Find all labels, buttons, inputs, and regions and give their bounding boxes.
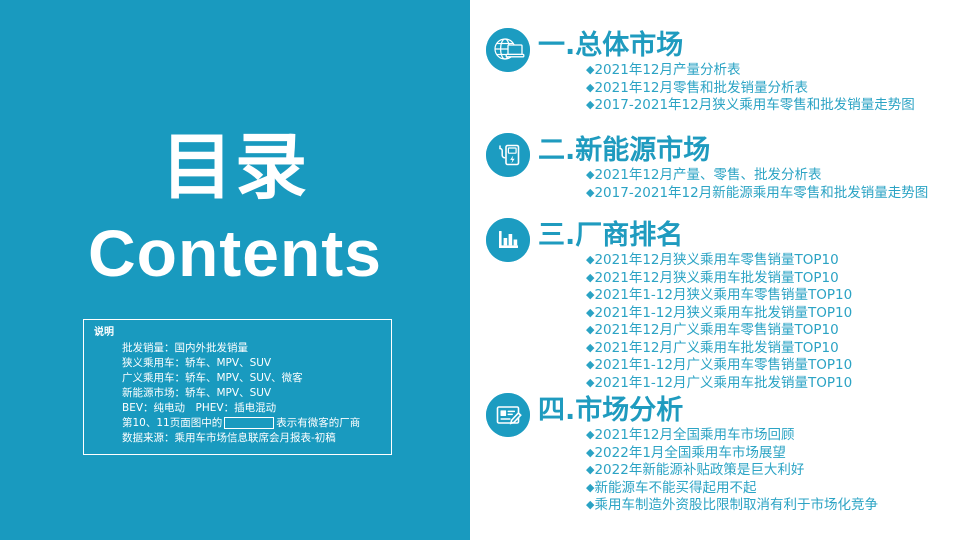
toc-section-3[interactable]: 三.厂商排名 ◆2021年12月狭义乘用车零售销量TOP10 ◆2021年12月…: [486, 218, 960, 262]
toc-item-label: 2021年12月产量、零售、批发分析表: [594, 167, 821, 183]
note-line: BEV：纯电动 PHEV：插电混动: [122, 401, 391, 416]
legend-note-box: 说明 批发销量：国内外批发销量 狭义乘用车：轿车、MPV、SUV 广义乘用车：轿…: [83, 319, 392, 455]
toc-item-label: 2021年1-12月狭义乘用车批发销量TOP10: [594, 305, 852, 321]
toc-section-4[interactable]: 四.市场分析 ◆2021年12月全国乘用车市场回顾 ◆2022年1月全国乘用车市…: [486, 393, 960, 437]
page-title-en: Contents: [0, 214, 470, 292]
toc-item[interactable]: ◆2021年1-12月广义乘用车零售销量TOP10: [586, 357, 852, 375]
toc-item[interactable]: ◆2021年12月零售和批发销量分析表: [586, 80, 915, 98]
toc-section-4-title: 四.市场分析: [538, 391, 683, 431]
diamond-bullet-icon: ◆: [586, 374, 594, 392]
toc-section-1[interactable]: 一.总体市场 ◆2021年12月产量分析表 ◆2021年12月零售和批发销量分析…: [486, 28, 960, 72]
globe-laptop-icon: [486, 28, 530, 72]
diamond-bullet-icon: ◆: [586, 251, 594, 269]
toc-item-label: 2021年1-12月广义乘用车零售销量TOP10: [594, 357, 852, 373]
diamond-bullet-icon: ◆: [586, 269, 594, 287]
diamond-bullet-icon: ◆: [586, 479, 594, 497]
diamond-bullet-icon: ◆: [586, 426, 594, 444]
toc-item-label: 2021年12月广义乘用车批发销量TOP10: [594, 340, 838, 356]
note-line: 批发销量：国内外批发销量: [122, 341, 391, 356]
diamond-bullet-icon: ◆: [586, 166, 594, 184]
toc-section-3-title: 三.厂商排名: [538, 216, 683, 256]
diamond-bullet-icon: ◆: [586, 304, 594, 322]
diamond-bullet-icon: ◆: [586, 496, 594, 514]
diamond-bullet-icon: ◆: [586, 184, 594, 202]
toc-item[interactable]: ◆2021年12月广义乘用车批发销量TOP10: [586, 340, 852, 358]
diamond-bullet-icon: ◆: [586, 461, 594, 479]
toc-item[interactable]: ◆乘用车制造外资股比限制取消有利于市场化竞争: [586, 497, 878, 515]
toc-item-label: 2021年1-12月广义乘用车批发销量TOP10: [594, 375, 852, 391]
document-pen-icon: [486, 393, 530, 437]
diamond-bullet-icon: ◆: [586, 286, 594, 304]
toc-item[interactable]: ◆2021年12月狭义乘用车批发销量TOP10: [586, 270, 852, 288]
toc-item-label: 2022年1月全国乘用车市场展望: [594, 445, 785, 461]
diamond-bullet-icon: ◆: [586, 356, 594, 374]
toc-item-label: 2022年新能源补贴政策是巨大利好: [594, 462, 804, 478]
diamond-bullet-icon: ◆: [586, 444, 594, 462]
bar-chart-icon: [486, 218, 530, 262]
toc-item[interactable]: ◆2017-2021年12月新能源乘用车零售和批发销量走势图: [586, 185, 928, 203]
toc-item-label: 乘用车制造外资股比限制取消有利于市场化竞争: [594, 497, 878, 513]
toc-item-label: 新能源车不能买得起用不起: [594, 480, 756, 496]
toc-item-label: 2021年12月全国乘用车市场回顾: [594, 427, 794, 443]
ev-charging-station-icon: [486, 133, 530, 177]
cover-panel: 目录 Contents 说明 批发销量：国内外批发销量 狭义乘用车：轿车、MPV…: [0, 0, 470, 540]
toc-item-label: 2021年1-12月狭义乘用车零售销量TOP10: [594, 287, 852, 303]
note-legend-line: 第10、11页面图中的表示有微客的厂商: [122, 416, 391, 431]
legend-swatch-box: [224, 417, 274, 429]
toc-item[interactable]: ◆2021年12月全国乘用车市场回顾: [586, 427, 878, 445]
toc-item[interactable]: ◆2017-2021年12月狭义乘用车零售和批发销量走势图: [586, 97, 915, 115]
toc-item-label: 2017-2021年12月新能源乘用车零售和批发销量走势图: [594, 185, 928, 201]
diamond-bullet-icon: ◆: [586, 96, 594, 114]
toc-item[interactable]: ◆2021年1-12月狭义乘用车零售销量TOP10: [586, 287, 852, 305]
page-title-cn: 目录: [0, 129, 470, 205]
toc-item[interactable]: ◆2021年12月广义乘用车零售销量TOP10: [586, 322, 852, 340]
toc-section-1-title: 一.总体市场: [538, 26, 683, 66]
toc-section-2-list: ◆2021年12月产量、零售、批发分析表 ◆2017-2021年12月新能源乘用…: [586, 167, 928, 202]
toc-item[interactable]: ◆2021年12月产量分析表: [586, 62, 915, 80]
legend-suffix: 表示有微客的厂商: [276, 417, 360, 429]
toc-section-2-title: 二.新能源市场: [538, 131, 710, 171]
toc-item[interactable]: ◆2021年12月狭义乘用车零售销量TOP10: [586, 252, 852, 270]
toc-item[interactable]: ◆2021年1-12月狭义乘用车批发销量TOP10: [586, 305, 852, 323]
toc-section-4-list: ◆2021年12月全国乘用车市场回顾 ◆2022年1月全国乘用车市场展望 ◆20…: [586, 427, 878, 515]
diamond-bullet-icon: ◆: [586, 79, 594, 97]
diamond-bullet-icon: ◆: [586, 321, 594, 339]
toc-item[interactable]: ◆2022年新能源补贴政策是巨大利好: [586, 462, 878, 480]
toc-item-label: 2021年12月产量分析表: [594, 62, 740, 78]
toc-panel: 一.总体市场 ◆2021年12月产量分析表 ◆2021年12月零售和批发销量分析…: [470, 0, 960, 540]
legend-prefix: 第10、11页面图中的: [122, 417, 222, 429]
toc-item-label: 2017-2021年12月狭义乘用车零售和批发销量走势图: [594, 97, 914, 113]
toc-item-label: 2021年12月广义乘用车零售销量TOP10: [594, 322, 838, 338]
note-heading: 说明: [94, 326, 391, 340]
toc-item[interactable]: ◆新能源车不能买得起用不起: [586, 480, 878, 498]
diamond-bullet-icon: ◆: [586, 61, 594, 79]
toc-section-1-list: ◆2021年12月产量分析表 ◆2021年12月零售和批发销量分析表 ◆2017…: [586, 62, 915, 115]
note-line: 新能源市场：轿车、MPV、SUV: [122, 386, 391, 401]
toc-item-label: 2021年12月狭义乘用车零售销量TOP10: [594, 252, 838, 268]
toc-section-3-list: ◆2021年12月狭义乘用车零售销量TOP10 ◆2021年12月狭义乘用车批发…: [586, 252, 852, 392]
toc-item[interactable]: ◆2021年1-12月广义乘用车批发销量TOP10: [586, 375, 852, 393]
slide-canvas: 目录 Contents 说明 批发销量：国内外批发销量 狭义乘用车：轿车、MPV…: [0, 0, 960, 540]
toc-item-label: 2021年12月零售和批发销量分析表: [594, 80, 808, 96]
toc-item-label: 2021年12月狭义乘用车批发销量TOP10: [594, 270, 838, 286]
note-line: 狭义乘用车：轿车、MPV、SUV: [122, 356, 391, 371]
toc-item[interactable]: ◆2022年1月全国乘用车市场展望: [586, 445, 878, 463]
toc-item[interactable]: ◆2021年12月产量、零售、批发分析表: [586, 167, 928, 185]
note-source-line: 数据来源：乘用车市场信息联席会月报表-初稿: [122, 431, 391, 446]
diamond-bullet-icon: ◆: [586, 339, 594, 357]
toc-section-2[interactable]: 二.新能源市场 ◆2021年12月产量、零售、批发分析表 ◆2017-2021年…: [486, 133, 960, 177]
note-line: 广义乘用车：轿车、MPV、SUV、微客: [122, 371, 391, 386]
